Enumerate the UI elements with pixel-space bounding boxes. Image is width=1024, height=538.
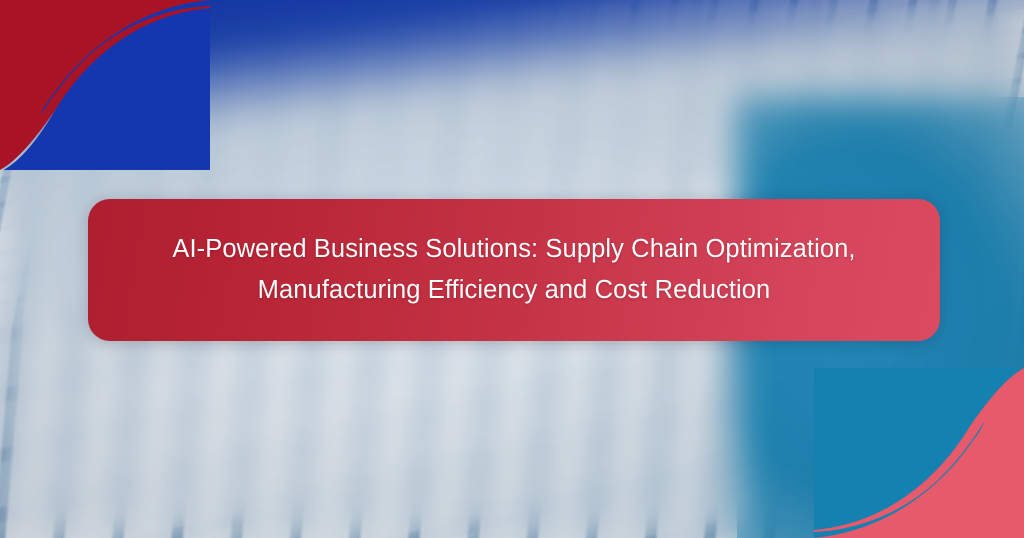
slide-canvas: AI-Powered Business Solutions: Supply Ch… — [0, 0, 1024, 538]
page-title-line-2: Manufacturing Efficiency and Cost Reduct… — [172, 270, 855, 311]
page-title: AI-Powered Business Solutions: Supply Ch… — [134, 229, 893, 312]
title-banner: AI-Powered Business Solutions: Supply Ch… — [88, 199, 940, 341]
page-title-line-1: AI-Powered Business Solutions: Supply Ch… — [172, 229, 855, 270]
